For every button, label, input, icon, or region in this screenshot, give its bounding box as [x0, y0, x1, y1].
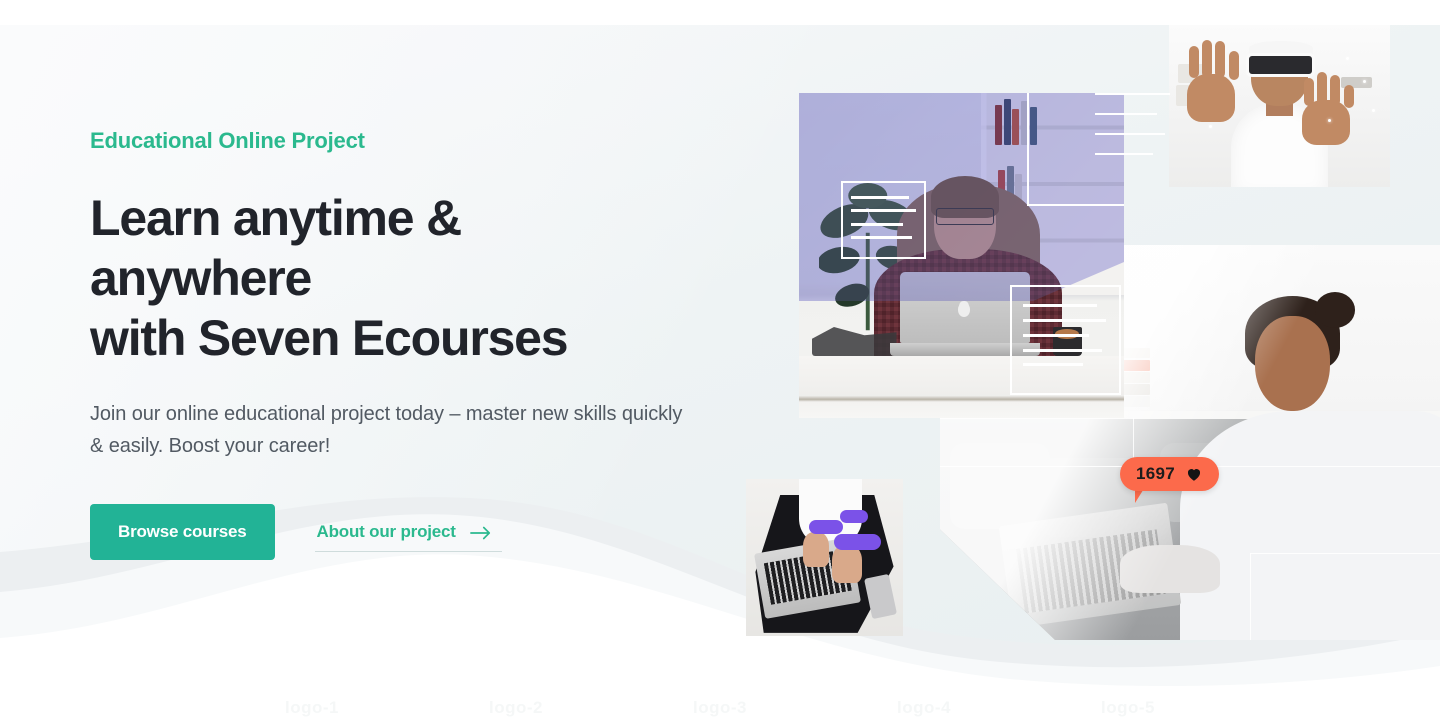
about-our-project-link[interactable]: About our project	[315, 504, 500, 560]
desk-person-hair	[931, 176, 999, 218]
lap-right-hand	[832, 545, 862, 583]
vr-finger	[1229, 51, 1239, 80]
couch-book-stack	[1095, 348, 1150, 415]
partner-logo: logo-4	[897, 698, 951, 718]
vr-shelf-box	[1176, 85, 1211, 106]
vr-finger	[1330, 75, 1340, 106]
couch-laptop-keyboard	[1016, 529, 1167, 614]
hero-title-line-1: Learn anytime & anywhere	[90, 190, 461, 306]
desk-surface	[799, 356, 1124, 418]
desk-laptop-lid	[900, 272, 1030, 344]
desk-room-background	[799, 93, 1124, 418]
couch-decor-vase	[990, 352, 1020, 415]
decorative-document-line	[1023, 349, 1102, 352]
book	[1030, 107, 1037, 145]
book	[995, 105, 1002, 145]
desk-photo-duotone-overlay	[799, 93, 1124, 418]
book	[1021, 101, 1028, 145]
hero-copy-block: Educational Online Project Learn anytime…	[90, 128, 710, 560]
vr-headset-strap	[1249, 41, 1313, 56]
desk-bookshelf	[981, 93, 1124, 295]
book	[1095, 384, 1150, 395]
vr-finger	[1344, 85, 1354, 108]
book	[1004, 99, 1011, 145]
couch-woman-hair-bun	[1315, 292, 1355, 328]
desk-clutter	[812, 327, 897, 356]
partner-logo: logo-5	[1101, 698, 1155, 718]
decorative-document-line	[851, 223, 903, 226]
decorative-line	[1027, 93, 1029, 204]
vr-sparkle	[1363, 80, 1366, 83]
book	[1015, 174, 1022, 202]
couch-wall-ledge	[940, 411, 1440, 443]
page-title: Learn anytime & anywhere with Seven Ecou…	[90, 188, 690, 368]
header-strip	[0, 0, 1440, 25]
decorative-line	[1250, 553, 1440, 554]
book	[1095, 372, 1150, 383]
lap-left-hand	[803, 532, 830, 567]
decorative-line	[1095, 153, 1153, 155]
book	[1095, 348, 1150, 359]
decorative-document-card	[841, 181, 926, 259]
couch-cushion	[950, 443, 1050, 530]
vr-finger	[1215, 41, 1225, 78]
decorative-document-line	[1023, 363, 1083, 366]
badge-connector-line	[1133, 418, 1134, 458]
lap-laptop	[754, 537, 861, 619]
vr-finger	[1189, 46, 1199, 78]
lap-person-torso	[799, 479, 862, 545]
arrow-right-icon	[470, 525, 492, 539]
couch-white-overlay	[940, 245, 1440, 640]
book	[1095, 360, 1150, 371]
desk-person-torso	[897, 184, 1040, 353]
decorative-document-line	[1023, 334, 1089, 337]
desk-person-glasses	[936, 208, 995, 224]
lap-smartphone	[865, 574, 898, 619]
photo-vr-headset	[1169, 25, 1390, 187]
chat-bubble	[834, 534, 881, 550]
lap-laptop-keyboard	[763, 549, 851, 605]
chat-bubble	[840, 510, 868, 523]
photo-laptop-on-lap	[746, 479, 903, 636]
partner-logo: logo-2	[489, 698, 543, 718]
decorative-line	[1095, 93, 1170, 95]
likes-badge: 1697	[1120, 457, 1219, 491]
vr-person-body	[1231, 103, 1328, 187]
hero-page: 1697 logo-1 logo-2 logo-3 logo-4 logo-5 …	[0, 0, 1440, 720]
vr-left-hand	[1187, 74, 1236, 123]
vr-shelf-box	[1341, 77, 1372, 88]
couch-book-stack	[1080, 423, 1125, 443]
hero-eyebrow: Educational Online Project	[90, 128, 710, 154]
vr-person-head	[1251, 44, 1308, 106]
book	[998, 170, 1005, 202]
couch-laptop	[999, 502, 1182, 627]
decorative-line	[1095, 113, 1157, 115]
book	[1007, 166, 1014, 202]
hero-subtitle: Join our online educational project toda…	[90, 398, 698, 462]
desk-person-head	[934, 181, 996, 259]
vr-finger	[1202, 40, 1212, 79]
partner-logo: logo-1	[285, 698, 339, 718]
decorative-line	[1250, 553, 1251, 640]
vr-person-neck	[1266, 96, 1293, 115]
decorative-document-line	[851, 209, 915, 212]
browse-courses-button[interactable]: Browse courses	[90, 504, 275, 560]
decorative-document-card	[1010, 285, 1121, 396]
desk-photo-duotone-highlight	[799, 93, 1124, 418]
photo-woman-on-couch	[940, 245, 1440, 640]
decorative-document-line	[1023, 319, 1106, 322]
decorative-document-line	[1023, 304, 1098, 307]
vr-sparkle	[1346, 57, 1349, 60]
chat-bubble	[809, 520, 844, 534]
hero-cta-row: Browse courses About our project	[90, 504, 710, 560]
couch-woman-body	[1180, 411, 1440, 640]
vr-right-hand	[1302, 100, 1351, 145]
photo-man-at-desk	[799, 93, 1124, 418]
decorative-line	[1095, 133, 1165, 135]
heart-icon	[1185, 465, 1203, 483]
book	[1095, 396, 1150, 407]
couch-woman-hair	[1245, 296, 1340, 371]
partner-logo: logo-3	[693, 698, 747, 718]
vr-finger	[1304, 78, 1314, 106]
about-our-project-label: About our project	[317, 522, 456, 542]
lap-floor-background	[746, 479, 903, 636]
couch-sofa	[940, 419, 1440, 640]
couch-room-background	[940, 245, 1440, 640]
decorative-document-line	[851, 236, 912, 239]
vr-sparkle	[1328, 119, 1331, 122]
vr-shelf-box	[1178, 64, 1207, 83]
likes-count: 1697	[1136, 464, 1175, 484]
desk-coffee-mug	[1053, 327, 1082, 356]
desk-person-shirt	[874, 249, 1063, 379]
decorative-document-line	[851, 196, 909, 199]
partner-logo-strip: logo-1 logo-2 logo-3 logo-4 logo-5	[0, 698, 1440, 720]
book	[1012, 109, 1019, 145]
couch-woman-hands	[1120, 545, 1220, 592]
vr-sparkle	[1372, 109, 1375, 112]
desk-plant	[819, 171, 917, 334]
vr-finger	[1317, 72, 1327, 106]
couch-woman-head	[1255, 316, 1330, 411]
vr-headset-goggles	[1246, 53, 1315, 77]
decorative-line	[1027, 204, 1125, 206]
apple-logo-icon	[958, 303, 970, 317]
vr-sparkle	[1209, 125, 1212, 128]
desk-laptop-base	[890, 343, 1040, 356]
vr-room-background	[1169, 25, 1390, 187]
lap-person-legs	[755, 495, 893, 633]
hero-title-line-2: with Seven Ecourses	[90, 310, 567, 366]
